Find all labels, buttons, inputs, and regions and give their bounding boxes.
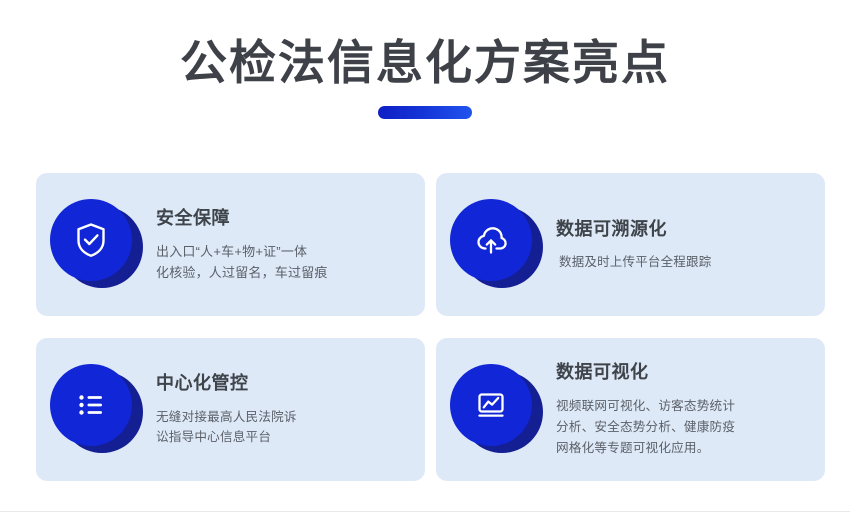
icon-main-circle xyxy=(50,364,132,446)
poster-page: 公检法信息化方案亮点 安全保障 出入口“人+车+物+证”一体 化核验，人过留名，… xyxy=(0,0,850,516)
card-description: 视频联网可视化、访客态势统计 分析、安全态势分析、健康防疫 网格化等专题可视化应… xyxy=(556,396,809,459)
feature-card-visualization[interactable]: 数据可视化 视频联网可视化、访客态势统计 分析、安全态势分析、健康防疫 网格化等… xyxy=(436,338,825,481)
feature-card-grid: 安全保障 出入口“人+车+物+证”一体 化核验，人过留名，车过留痕 数据可溯源化… xyxy=(36,173,826,481)
icon-main-circle xyxy=(50,199,132,281)
card-title: 数据可视化 xyxy=(556,362,809,384)
card-description: 出入口“人+车+物+证”一体 化核验，人过留名，车过留痕 xyxy=(156,241,409,283)
card-body: 数据可视化 视频联网可视化、访客态势统计 分析、安全态势分析、健康防疫 网格化等… xyxy=(556,360,809,459)
card-title: 安全保障 xyxy=(156,208,409,230)
page-header: 公检法信息化方案亮点 xyxy=(0,36,850,119)
bottom-divider xyxy=(0,511,850,512)
list-icon xyxy=(69,383,113,427)
chart-monitor-icon xyxy=(469,383,513,427)
card-body: 数据可溯源化 数据及时上传平台全程跟踪 xyxy=(556,217,809,273)
icon-main-circle xyxy=(450,199,532,281)
card-title: 数据可溯源化 xyxy=(556,219,809,241)
card-description: 数据及时上传平台全程跟踪 xyxy=(556,252,809,272)
cloud-upload-icon xyxy=(469,218,513,262)
icon-badge xyxy=(450,364,542,456)
title-underline-bar xyxy=(378,106,472,119)
card-title: 中心化管控 xyxy=(156,373,409,395)
feature-card-security[interactable]: 安全保障 出入口“人+车+物+证”一体 化核验，人过留名，车过留痕 xyxy=(36,173,425,316)
feature-card-centralized-control[interactable]: 中心化管控 无缝对接最高人民法院诉 讼指导中心信息平台 xyxy=(36,338,425,481)
icon-badge xyxy=(50,364,142,456)
feature-card-traceability[interactable]: 数据可溯源化 数据及时上传平台全程跟踪 xyxy=(436,173,825,316)
card-description: 无缝对接最高人民法院诉 讼指导中心信息平台 xyxy=(156,407,409,448)
icon-badge xyxy=(50,199,142,291)
shield-check-icon xyxy=(70,219,112,261)
page-title: 公检法信息化方案亮点 xyxy=(0,36,850,90)
icon-badge xyxy=(450,199,542,291)
card-body: 安全保障 出入口“人+车+物+证”一体 化核验，人过留名，车过留痕 xyxy=(156,206,409,284)
card-body: 中心化管控 无缝对接最高人民法院诉 讼指导中心信息平台 xyxy=(156,371,409,447)
icon-main-circle xyxy=(450,364,532,446)
